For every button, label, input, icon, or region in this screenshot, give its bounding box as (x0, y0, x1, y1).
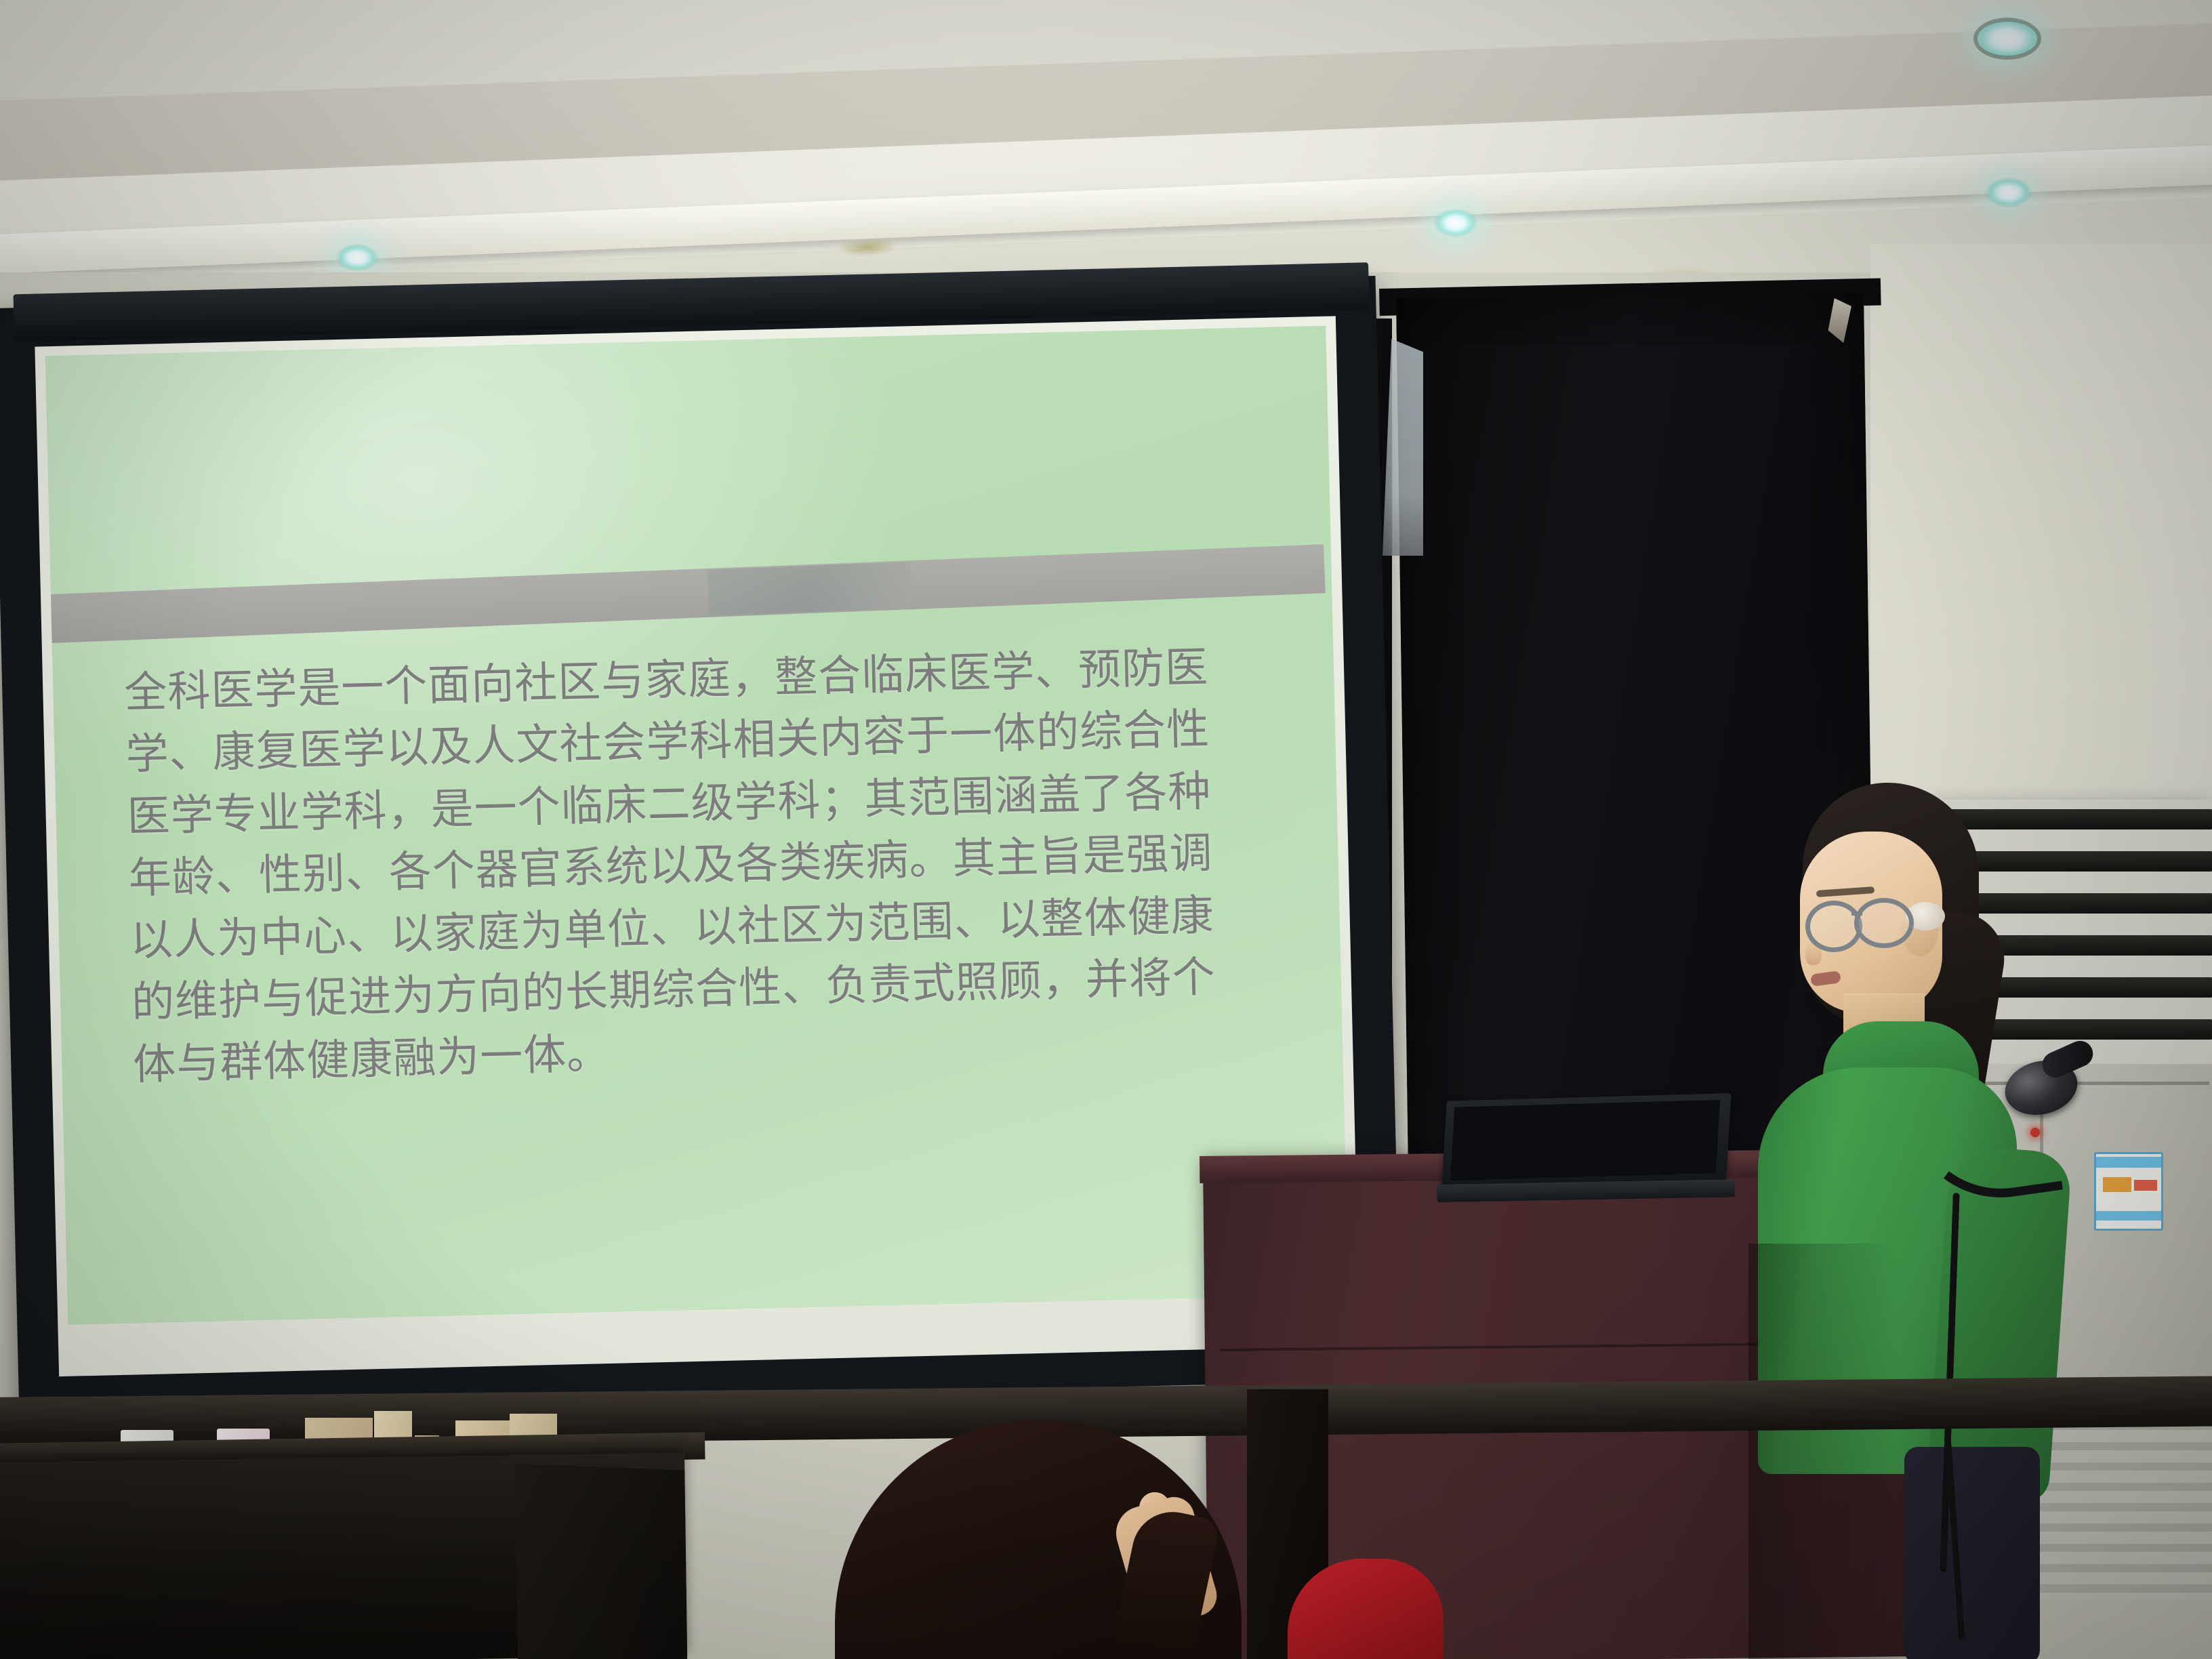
presenter-trousers (1904, 1447, 2040, 1659)
projected-slide: 全科医学是一个面向社区与家庭，整合临床医学、预防医 学、康复医学以及人文社会学科… (45, 326, 1349, 1325)
presenter-nose (1805, 942, 1822, 965)
presenter (1735, 769, 2087, 1659)
downlight-icon (1986, 178, 2032, 207)
air-conditioner-label (2094, 1152, 2163, 1231)
eyeglasses-icon (1854, 898, 1914, 948)
laptop-screen (1450, 1100, 1720, 1181)
eyeglasses-bridge (1851, 912, 1862, 916)
downlight-icon (336, 244, 378, 271)
ceiling-mark (836, 237, 898, 258)
slide-title-banner (45, 544, 1326, 643)
slide-body-text: 全科医学是一个面向社区与家庭，整合临床医学、预防医 学、康复医学以及人文社会学科… (123, 636, 1286, 1097)
downlight-icon (1973, 18, 2041, 60)
slide-banner-graphic (708, 562, 912, 616)
desk-side-panel (515, 1464, 687, 1659)
projection-screen: 全科医学是一个面向社区与家庭，整合临床医学、预防医 学、康复医学以及人文社会学科… (0, 275, 1415, 1419)
microphone-indicator-light (2030, 1128, 2040, 1137)
photo-scene: 全科医学是一个面向社区与家庭，整合临床医学、预防医 学、康复医学以及人文社会学科… (0, 0, 2212, 1659)
downlight-icon (1434, 209, 1477, 237)
